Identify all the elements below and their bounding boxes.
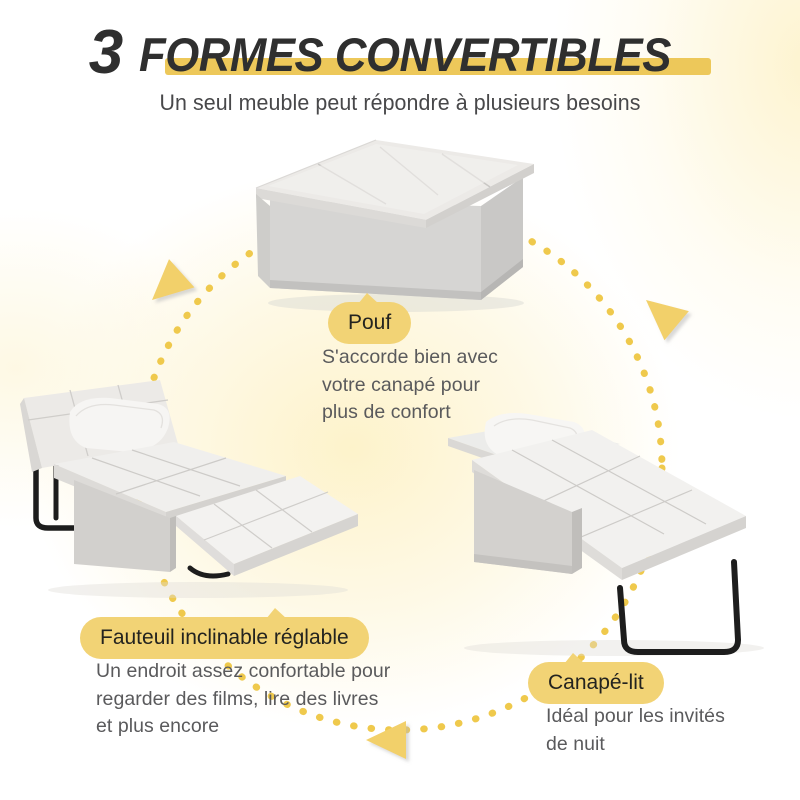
page-title: 3FORMES CONVERTIBLES <box>89 22 711 84</box>
title-number: 3 <box>89 18 123 87</box>
description-recliner: Un endroit assez confortable pour regard… <box>96 658 466 741</box>
badge-label-recliner: Fauteuil inclinable réglable <box>100 626 349 649</box>
badge-pouf[interactable]: Pouf <box>328 302 411 344</box>
page-subtitle: Un seul meuble peut répondre à plusieurs… <box>20 90 780 116</box>
description-sofabed: Idéal pour les invités de nuit <box>546 703 796 758</box>
title-row: 3FORMES CONVERTIBLES <box>85 22 715 84</box>
badge-sofabed[interactable]: Canapé-lit <box>528 662 664 704</box>
badge-label-sofabed: Canapé-lit <box>548 671 644 694</box>
arrow-left-icon <box>139 259 194 314</box>
badge-tail-recliner <box>266 608 287 619</box>
description-pouf: S'accorde bien avec votre canapé pour pl… <box>322 344 562 427</box>
sofa-bed-photo <box>424 408 780 658</box>
badge-tail-sofabed <box>564 653 585 664</box>
title-text: FORMES CONVERTIBLES <box>139 31 671 78</box>
recliner-photo <box>18 368 364 600</box>
arrow-right-icon <box>634 285 689 340</box>
infographic-canvas: 3FORMES CONVERTIBLES Un seul meuble peut… <box>0 0 800 800</box>
header: 3FORMES CONVERTIBLES Un seul meuble peut… <box>0 22 800 116</box>
ottoman-photo <box>238 128 548 313</box>
badge-label-pouf: Pouf <box>348 311 391 334</box>
badge-tail-pouf <box>358 293 379 304</box>
badge-recliner[interactable]: Fauteuil inclinable réglable <box>80 617 369 659</box>
